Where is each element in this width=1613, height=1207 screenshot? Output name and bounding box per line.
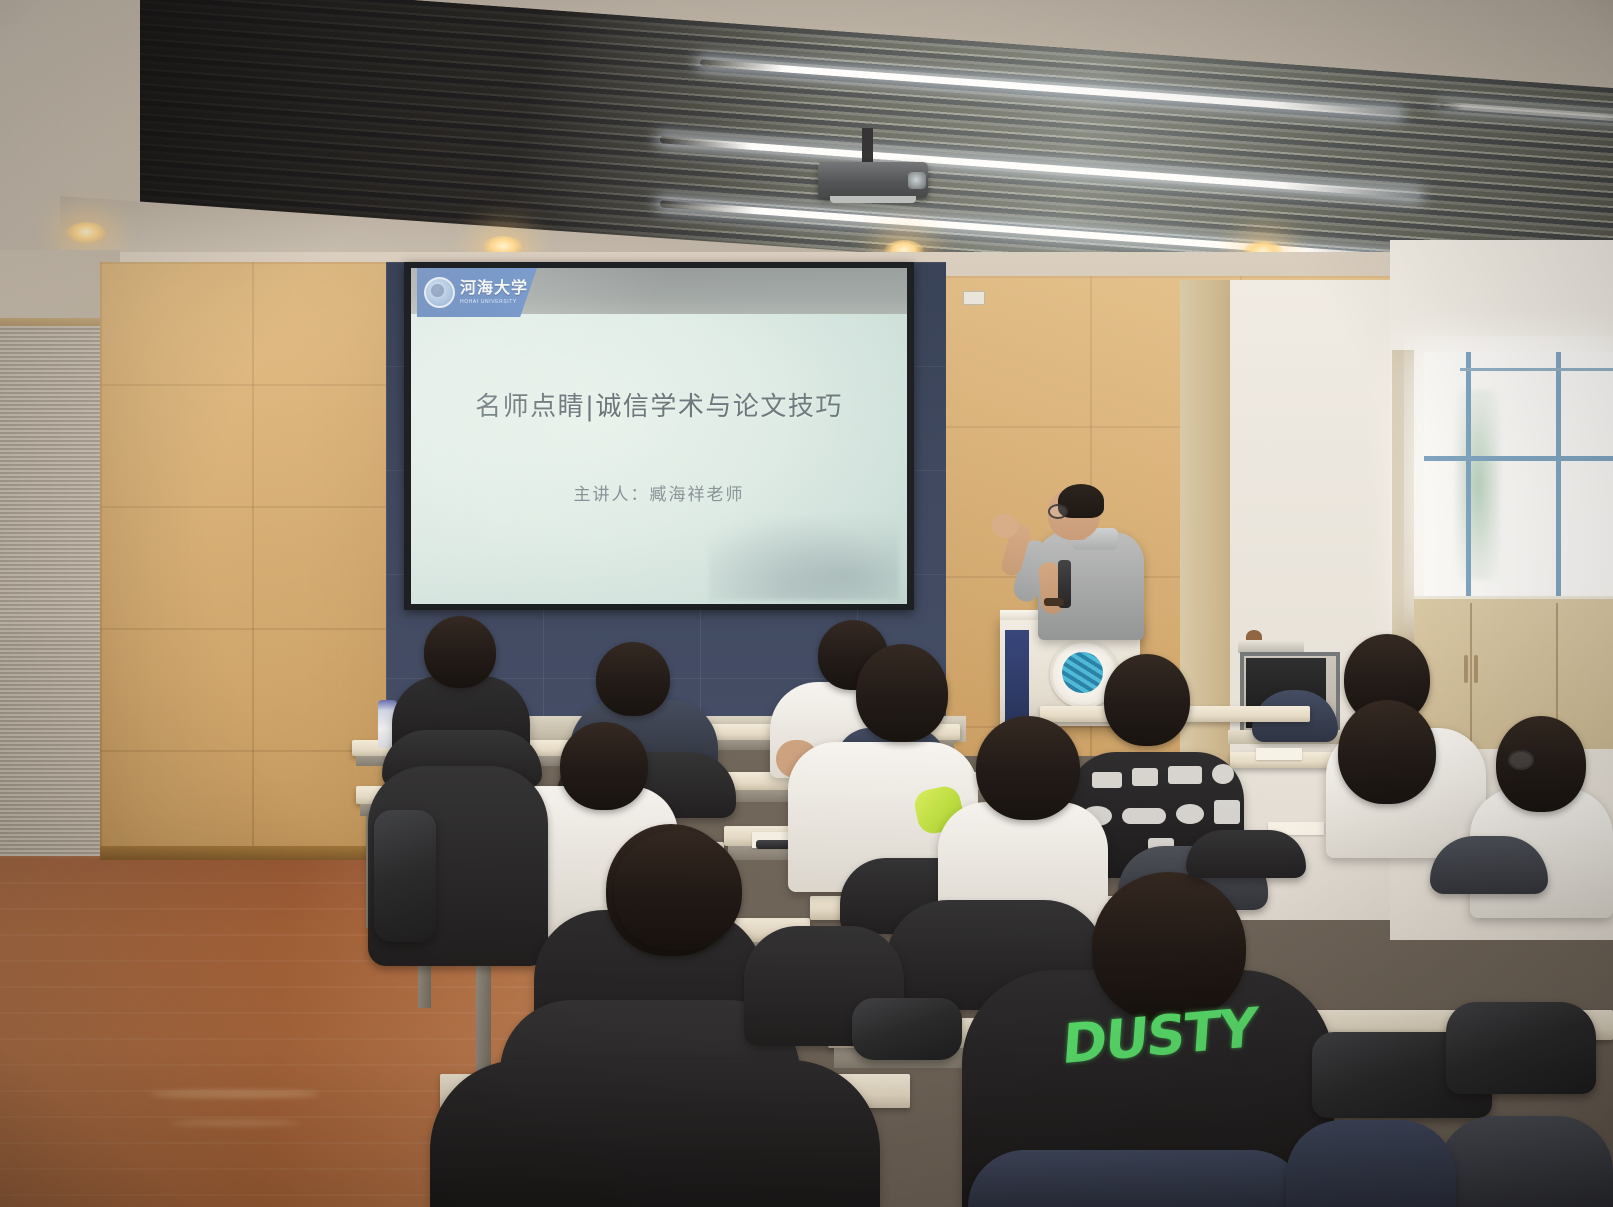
shirt-patch — [1176, 804, 1204, 824]
projector-base — [830, 196, 916, 203]
floor-highlight — [170, 1120, 300, 1126]
projection-screen: 河海大学 HOHAI UNIVERSITY 名师点睛|诚信学术与论文技巧 主讲人… — [411, 268, 907, 604]
chair[interactable] — [1186, 830, 1306, 878]
window-mullion — [1460, 368, 1613, 371]
wood-panel-wall-left-shading — [100, 262, 400, 872]
cabinet-handle[interactable] — [1464, 655, 1468, 683]
cabinet-handle[interactable] — [1474, 655, 1478, 683]
shirt-patch — [1212, 764, 1234, 784]
shirt-patch — [1122, 808, 1166, 824]
ribbed-partition-curtain — [0, 326, 112, 886]
student-head — [856, 644, 948, 742]
student-head — [560, 722, 648, 810]
floor-highlight — [150, 1090, 320, 1098]
lectern-side-panel — [1005, 630, 1029, 726]
wall-sensor — [963, 291, 985, 305]
chair[interactable] — [1438, 1116, 1613, 1207]
backpack[interactable] — [852, 998, 962, 1060]
cabinet-seam — [1470, 603, 1472, 749]
chair[interactable] — [1286, 1120, 1456, 1207]
shirt-patch — [1132, 768, 1158, 786]
shirt-patch — [1214, 800, 1240, 824]
window-mullion — [1556, 352, 1561, 612]
window — [1424, 352, 1613, 612]
student-head — [976, 716, 1080, 820]
lectern-logo-roundel — [1062, 652, 1103, 693]
student-torso — [430, 1060, 880, 1207]
window-mullion — [1424, 456, 1613, 461]
recessed-downlight — [66, 222, 106, 244]
window-mullion — [1466, 352, 1471, 612]
chair[interactable] — [1430, 836, 1548, 894]
screen-glare — [411, 268, 907, 604]
student-head — [614, 830, 742, 950]
shirt-patch — [1168, 766, 1202, 784]
student-head — [1338, 700, 1436, 804]
window-greenery — [1456, 390, 1500, 580]
student-head — [424, 616, 496, 688]
presenter-glasses-icon — [1048, 504, 1068, 519]
lecture-hall-photo: 河海大学 HOHAI UNIVERSITY 名师点睛|诚信学术与论文技巧 主讲人… — [0, 0, 1613, 1207]
shirt-patch — [1092, 772, 1122, 788]
backpack[interactable] — [1446, 1002, 1596, 1094]
presenter-hand — [992, 514, 1018, 538]
chair[interactable] — [968, 1150, 1308, 1207]
smartphone[interactable] — [756, 840, 790, 849]
student-glasses-icon — [1508, 750, 1534, 770]
student-head — [596, 642, 670, 716]
projector-lens-icon — [908, 172, 926, 189]
backpack[interactable] — [374, 810, 436, 942]
notebook[interactable] — [1256, 748, 1302, 760]
student-head — [1104, 654, 1190, 746]
presenter-wristwatch — [1044, 598, 1064, 606]
